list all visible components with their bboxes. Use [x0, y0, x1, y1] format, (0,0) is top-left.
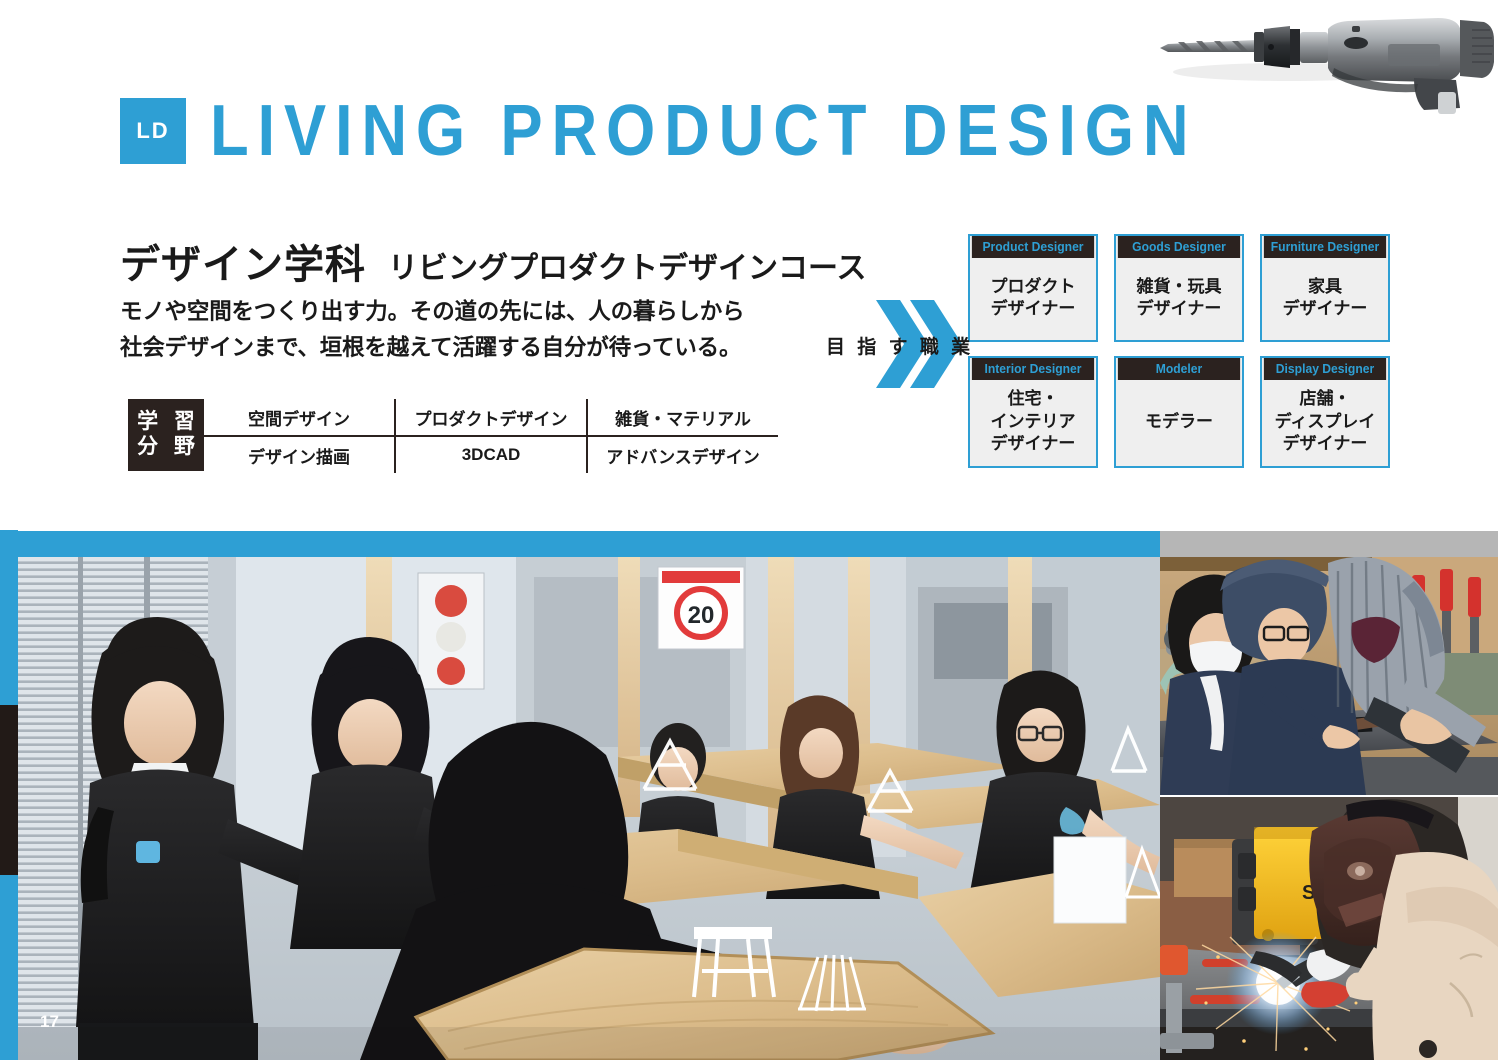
- study-field-row: 空間デザイン プロダクトデザイン 雑貨・マテリアル: [204, 399, 778, 437]
- study-field-badge: 学 習 分 野: [128, 399, 204, 471]
- career-card-display-designer[interactable]: Display Designer 店舗・ディスプレイデザイナー: [1260, 356, 1390, 468]
- study-field-cell: 雑貨・マテリアル: [586, 399, 778, 437]
- career-card-jp-title: 家具デザイナー: [1262, 258, 1388, 340]
- study-field-grid: 空間デザイン プロダクトデザイン 雑貨・マテリアル デザイン描画 3DCAD ア…: [204, 399, 778, 473]
- career-card-en-title: Product Designer: [972, 236, 1094, 258]
- career-card-modeler[interactable]: Modeler モデラー: [1114, 356, 1244, 468]
- career-card-interior-designer[interactable]: Interior Designer 住宅・インテリアデザイナー: [968, 356, 1098, 468]
- department-name: デザイン学科: [120, 232, 366, 290]
- career-card-en-title: Modeler: [1118, 358, 1240, 380]
- study-field-table: 学 習 分 野 空間デザイン プロダクトデザイン 雑貨・マテリアル デザイン描画…: [128, 399, 778, 473]
- page-title: LIVING PRODUCT DESIGN: [210, 95, 1197, 167]
- course-name: リビングプロダクトデザインコース: [388, 243, 867, 287]
- photo-band: 20: [0, 531, 1498, 1060]
- career-card-product-designer[interactable]: Product Designer プロダクトデザイナー: [968, 234, 1098, 342]
- career-card-en-title: Furniture Designer: [1264, 236, 1386, 258]
- aim-label-text: 目 指 す 職 業: [826, 332, 974, 359]
- study-field-cell: アドバンスデザイン: [586, 437, 778, 473]
- band-gray-bar: [1160, 531, 1498, 557]
- career-card-goods-designer[interactable]: Goods Designer 雑貨・玩具デザイナー: [1114, 234, 1244, 342]
- study-badge-line-2: 分 野: [132, 435, 200, 460]
- svg-text:20: 20: [688, 602, 715, 629]
- career-card-en-title: Display Designer: [1264, 358, 1386, 380]
- study-field-row: デザイン描画 3DCAD アドバンスデザイン: [204, 437, 778, 473]
- left-edge-dark-segment: [0, 705, 18, 875]
- ld-badge: LD: [120, 98, 186, 164]
- metal-workshop-photo: [1160, 557, 1498, 795]
- band-blue-bar: [0, 531, 1160, 557]
- study-field-cell: プロダクトデザイン: [394, 399, 586, 437]
- department-heading: デザイン学科 リビングプロダクトデザインコース: [120, 232, 867, 290]
- career-card-jp-title: プロダクトデザイナー: [970, 258, 1096, 340]
- career-card-jp-title: 雑貨・玩具デザイナー: [1116, 258, 1242, 340]
- study-field-cell: 空間デザイン: [204, 399, 394, 437]
- career-card-en-title: Goods Designer: [1118, 236, 1240, 258]
- lead-line-1: モノや空間をつくり出す力。その道の先には、人の暮らしから: [120, 294, 744, 330]
- study-field-cell: デザイン描画: [204, 437, 394, 473]
- lead-paragraph: モノや空間をつくり出す力。その道の先には、人の暮らしから 社会デザインまで、垣根…: [120, 294, 744, 367]
- main-workshop-photo: 20: [18, 557, 1160, 1060]
- career-card-furniture-designer[interactable]: Furniture Designer 家具デザイナー: [1260, 234, 1390, 342]
- career-card-jp-title: 住宅・インテリアデザイナー: [970, 380, 1096, 466]
- career-cards-grid: Product Designer プロダクトデザイナー Goods Design…: [968, 234, 1390, 468]
- page-number: 17: [40, 1012, 59, 1032]
- aim-careers-label: 目 指 す 職 業: [826, 298, 966, 390]
- brochure-page: LD LIVING PRODUCT DESIGN デザイン学科 リビングプロダク…: [0, 0, 1498, 1060]
- career-card-jp-title: 店舗・ディスプレイデザイナー: [1262, 380, 1388, 466]
- career-card-jp-title: モデラー: [1116, 380, 1242, 466]
- welding-photo: SUZU: [1160, 797, 1498, 1060]
- lead-line-2: 社会デザインまで、垣根を越えて活躍する自分が待っている。: [120, 330, 744, 366]
- study-badge-line-1: 学 習: [132, 410, 200, 435]
- page-title-row: LD LIVING PRODUCT DESIGN: [120, 95, 1332, 167]
- study-field-cell: 3DCAD: [394, 437, 586, 473]
- career-card-en-title: Interior Designer: [972, 358, 1094, 380]
